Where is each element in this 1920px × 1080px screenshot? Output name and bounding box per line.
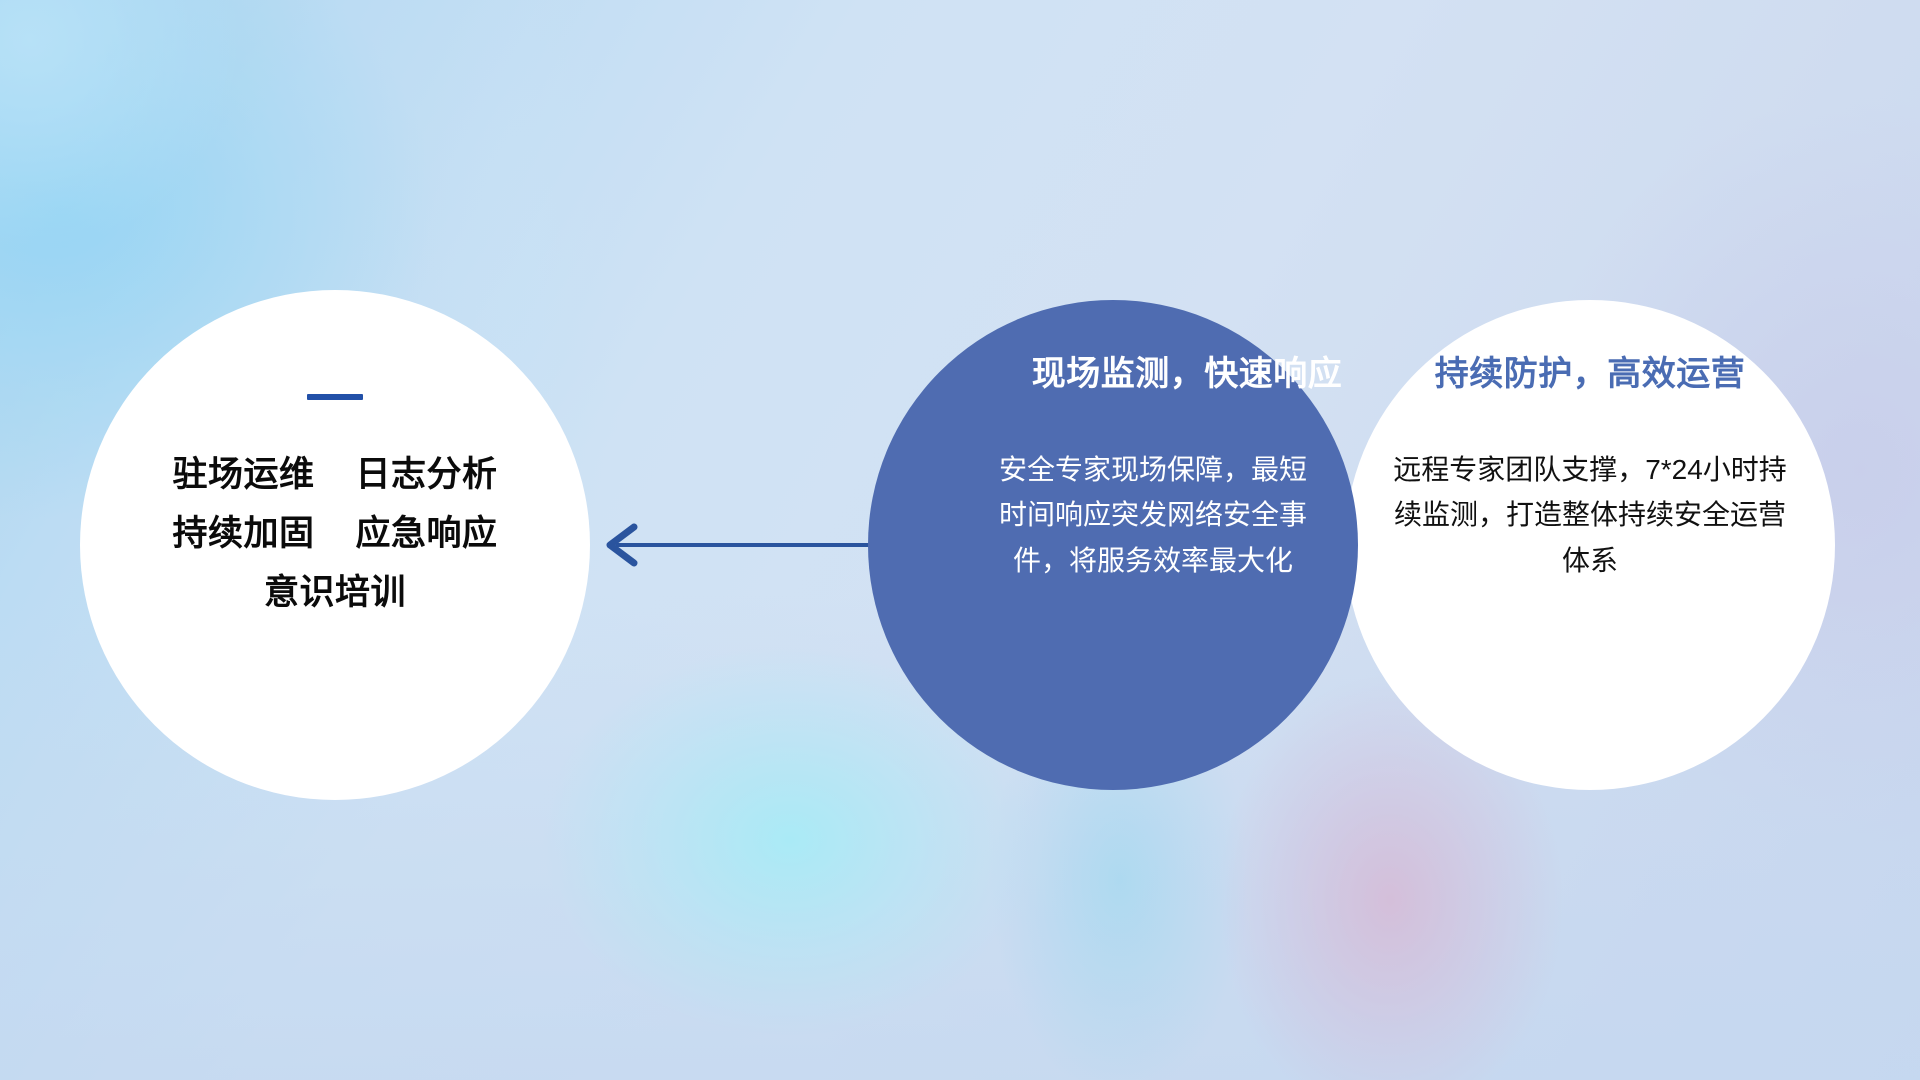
right-circle-title: 持续防护，高效运营 [1435, 346, 1746, 395]
capabilities-list: 驻场运维 日志分析 持续加固 应急响应 意识培训 [173, 446, 498, 622]
right-circle-body: 远程专家团队支撑，7*24小时持续监测，打造整体持续安全运营体系 [1390, 447, 1790, 583]
continuous-protection-circle[interactable]: 持续防护，高效运营 远程专家团队支撑，7*24小时持续监测，打造整体持续安全运营… [1345, 300, 1835, 790]
middle-circle-title: 现场监测，快速响应 [1032, 346, 1343, 395]
capability-line-3: 意识培训 [173, 564, 498, 623]
dash-divider-icon [307, 394, 363, 400]
capability-line-1: 驻场运维 日志分析 [173, 446, 498, 505]
slide-canvas: 驻场运维 日志分析 持续加固 应急响应 意识培训 持续防护，高效运营 远程专家团… [0, 0, 1920, 1080]
left-pointing-arrow-icon [590, 515, 880, 575]
onsite-monitoring-circle[interactable]: 现场监测，快速响应 安全专家现场保障，最短时间响应突发网络安全事件，将服务效率最… [868, 300, 1358, 790]
capabilities-circle-left[interactable]: 驻场运维 日志分析 持续加固 应急响应 意识培训 [80, 290, 590, 800]
middle-circle-body: 安全专家现场保障，最短时间响应突发网络安全事件，将服务效率最大化 [988, 447, 1318, 583]
capability-line-2: 持续加固 应急响应 [173, 505, 498, 564]
